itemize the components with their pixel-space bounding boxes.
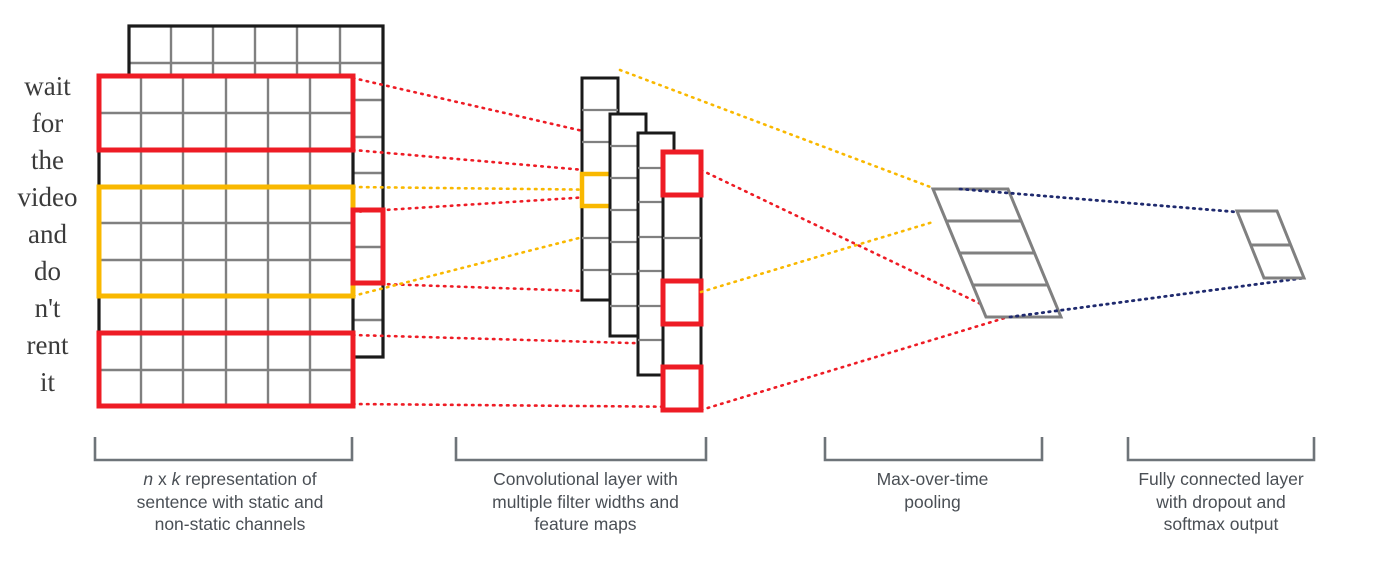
- bracket-input-layer: [95, 437, 352, 460]
- bracket-output-layer: [1128, 437, 1314, 460]
- caption-pool-layer: Max-over-time pooling: [820, 468, 1045, 513]
- caption-input-line2: sentence with static and: [85, 491, 375, 514]
- bracket-conv-layer: [456, 437, 706, 460]
- connector-yellow-1: [353, 187, 618, 190]
- caption-output-line3: softmax output: [1110, 513, 1332, 536]
- connector-pool-red-2: [701, 317, 1008, 410]
- caption-conv-line1: Convolutional layer with: [443, 468, 728, 491]
- bracket-pool-layer: [825, 437, 1042, 460]
- connector-yellow-2: [353, 228, 618, 296]
- caption-output-line1: Fully connected layer: [1110, 468, 1332, 491]
- caption-input-layer: n x k representation of sentence with st…: [85, 468, 375, 536]
- cnn-architecture-figure: wait for the video and do n't rent it: [0, 0, 1390, 565]
- symbol-n: n: [143, 469, 153, 489]
- caption-pool-line1: Max-over-time: [820, 468, 1045, 491]
- caption-pool-line2: pooling: [820, 491, 1045, 514]
- caption-input-line3: non-static channels: [85, 513, 375, 536]
- caption-input-mid: x: [153, 469, 171, 489]
- output-layer: [1237, 211, 1304, 278]
- caption-conv-line2: multiple filter widths and: [443, 491, 728, 514]
- caption-output-layer: Fully connected layer with dropout and s…: [1110, 468, 1332, 536]
- connector-pool-yellow-2: [701, 222, 933, 292]
- connector-red-6: [353, 404, 700, 407]
- conv-feature-map-4: [663, 152, 701, 410]
- max-pooling-layer: [933, 189, 1061, 317]
- caption-input-post: representation of: [180, 469, 316, 489]
- caption-conv-layer: Convolutional layer with multiple filter…: [443, 468, 728, 536]
- caption-input-line1: n x k representation of: [85, 468, 375, 491]
- caption-conv-line3: feature maps: [443, 513, 728, 536]
- section-brackets: [95, 437, 1314, 460]
- caption-output-line2: with dropout and: [1110, 491, 1332, 514]
